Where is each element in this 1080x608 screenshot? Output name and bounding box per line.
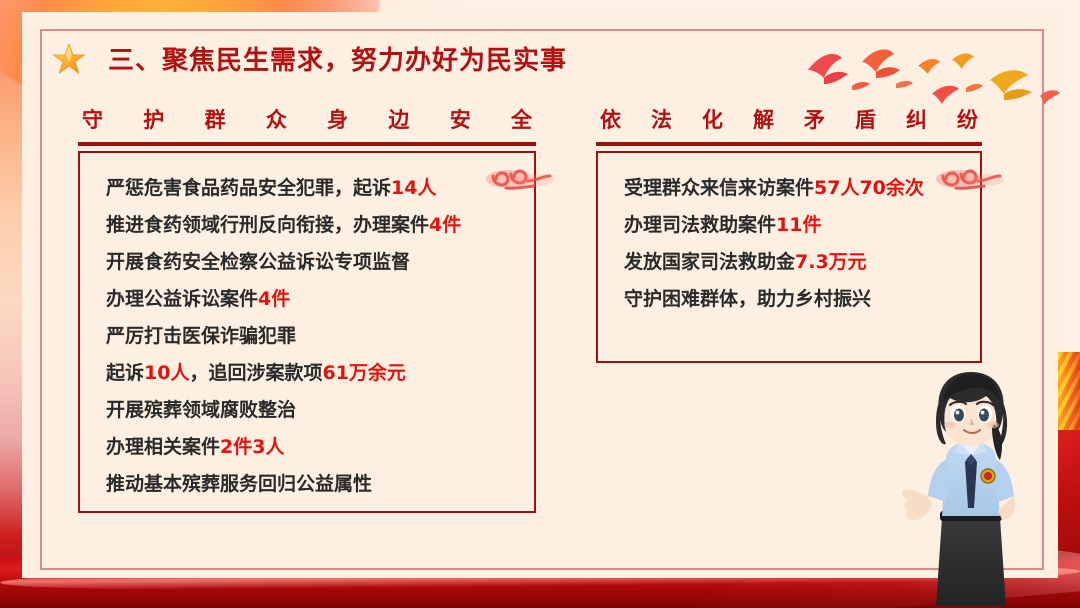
column-left: 守 护 群 众 身 边 安 全	[78, 104, 536, 513]
column-right-content-box: 受理群众来信来访案件57人70余次办理司法救助案件11件发放国家司法救助金7.3…	[596, 151, 982, 363]
heading-char: 依	[600, 104, 621, 134]
highlight-number: 10人	[144, 362, 189, 384]
column-right-heading: 依 法 化 解 矛 盾 纠 纷	[596, 104, 982, 142]
list-item: 开展殡葬领域腐败整治	[106, 401, 510, 420]
list-item: 守护困难群体，助力乡村振兴	[624, 290, 956, 309]
list-item: 推动基本殡葬服务回归公益属性	[106, 475, 510, 494]
column-left-content-box: 严惩危害食品药品安全犯罪，起诉14人推进食药领域行刑反向衔接，办理案件4件开展食…	[78, 151, 536, 513]
gold-star-icon	[52, 42, 86, 76]
highlight-number: 14人	[391, 177, 436, 199]
highlight-number: 61万余元	[322, 362, 405, 384]
list-item: 开展食药安全检察公益诉讼专项监督	[106, 253, 510, 272]
column-right: 依 法 化 解 矛 盾 纠 纷	[596, 104, 982, 363]
heading-char: 矛	[804, 104, 825, 134]
heading-char: 全	[511, 104, 532, 134]
highlight-number: 57人70余次	[814, 177, 924, 199]
page-title-text: 三、聚焦民生需求，努力办好为民实事	[108, 40, 567, 77]
column-left-rule	[78, 142, 536, 146]
heading-char: 化	[702, 104, 723, 134]
heading-char: 护	[143, 104, 164, 134]
heading-char: 解	[753, 104, 774, 134]
list-item: 推进食药领域行刑反向衔接，办理案件4件	[106, 216, 510, 235]
list-item: 起诉10人，追回涉案款项61万余元	[106, 364, 510, 383]
slide-canvas: 三、聚焦民生需求，努力办好为民实事 守 护	[0, 0, 1080, 608]
heading-char: 边	[388, 104, 409, 134]
list-item: 办理司法救助案件11件	[624, 216, 956, 235]
heading-char: 安	[450, 104, 471, 134]
highlight-number: 7.3万元	[795, 251, 867, 273]
highlight-number: 2件3人	[220, 436, 284, 458]
heading-char: 身	[327, 104, 348, 134]
heading-char: 纷	[957, 104, 978, 134]
heading-char: 法	[651, 104, 672, 134]
column-left-heading: 守 护 群 众 身 边 安 全	[78, 104, 536, 142]
highlight-number: 11件	[776, 214, 821, 236]
column-right-rule	[596, 142, 982, 146]
list-item: 受理群众来信来访案件57人70余次	[624, 179, 956, 198]
list-item: 严惩危害食品药品安全犯罪，起诉14人	[106, 179, 510, 198]
heading-char: 群	[205, 104, 226, 134]
list-item: 办理公益诉讼案件4件	[106, 290, 510, 309]
list-item: 发放国家司法救助金7.3万元	[624, 253, 956, 272]
highlight-number: 4件	[258, 288, 290, 310]
heading-char: 守	[82, 104, 103, 134]
heading-char: 纠	[906, 104, 927, 134]
list-item: 办理相关案件2件3人	[106, 438, 510, 457]
heading-char: 盾	[855, 104, 876, 134]
flying-birds-icon	[800, 28, 1070, 108]
prosecutor-mascot-illustration	[902, 368, 1052, 608]
highlight-number: 4件	[429, 214, 461, 236]
list-item: 严厉打击医保诈骗犯罪	[106, 327, 510, 346]
heading-char: 众	[266, 104, 287, 134]
page-title: 三、聚焦民生需求，努力办好为民实事	[52, 40, 567, 77]
